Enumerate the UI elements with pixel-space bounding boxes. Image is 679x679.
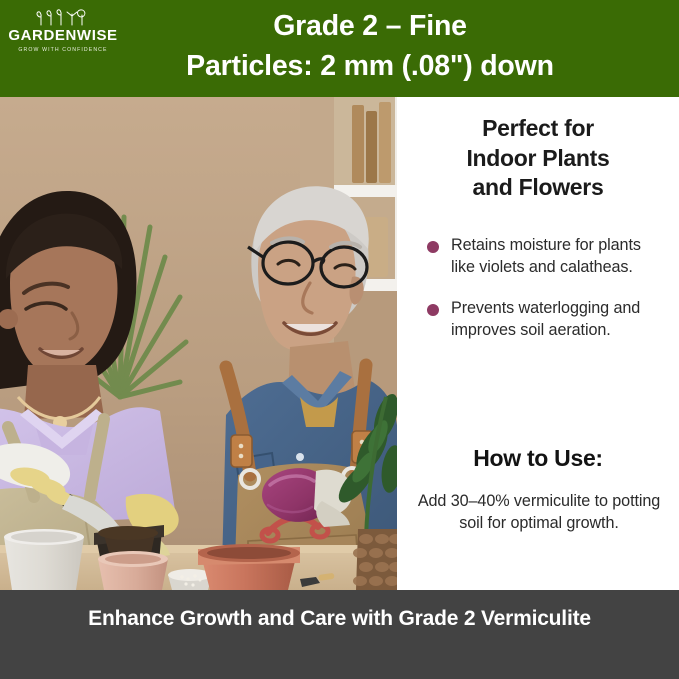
brand-logo: GARDENWISE GROW WITH CONFIDENCE — [8, 8, 118, 55]
header-title-line-1: Grade 2 – Fine — [120, 6, 620, 46]
header-title: Grade 2 – Fine Particles: 2 mm (.08") do… — [120, 6, 620, 86]
howto-body: Add 30–40% vermiculite to potting soil f… — [413, 490, 665, 534]
list-item: Prevents waterlogging and improves soil … — [425, 298, 669, 341]
product-photo — [0, 97, 397, 590]
info-panel: Perfect for Indoor Plants and Flowers Re… — [397, 97, 679, 590]
sprout-leaves-icon — [35, 8, 91, 26]
list-item-text: Prevents waterlogging and improves soil … — [451, 299, 640, 339]
header-title-line-2: Particles: 2 mm (.08") down — [120, 46, 620, 86]
howto-heading: How to Use: — [409, 444, 667, 472]
panel-heading-line-2: Indoor Plants — [409, 144, 667, 174]
panel-heading-line-3: and Flowers — [409, 173, 667, 203]
bullet-dot-icon — [427, 241, 439, 253]
list-item: Retains moisture for plants like violets… — [425, 235, 669, 278]
brand-tagline: GROW WITH CONFIDENCE — [8, 46, 118, 55]
bullet-dot-icon — [427, 304, 439, 316]
footer-text: Enhance Growth and Care with Grade 2 Ver… — [60, 604, 619, 633]
header-banner: GARDENWISE GROW WITH CONFIDENCE Grade 2 … — [0, 0, 679, 97]
panel-heading: Perfect for Indoor Plants and Flowers — [409, 114, 667, 203]
list-item-text: Retains moisture for plants like violets… — [451, 236, 641, 276]
panel-heading-line-1: Perfect for — [409, 114, 667, 144]
footer-banner: Enhance Growth and Care with Grade 2 Ver… — [0, 590, 679, 679]
product-infographic: GARDENWISE GROW WITH CONFIDENCE Grade 2 … — [0, 0, 679, 679]
benefits-list: Retains moisture for plants like violets… — [425, 235, 669, 361]
brand-name: GARDENWISE — [8, 27, 118, 44]
